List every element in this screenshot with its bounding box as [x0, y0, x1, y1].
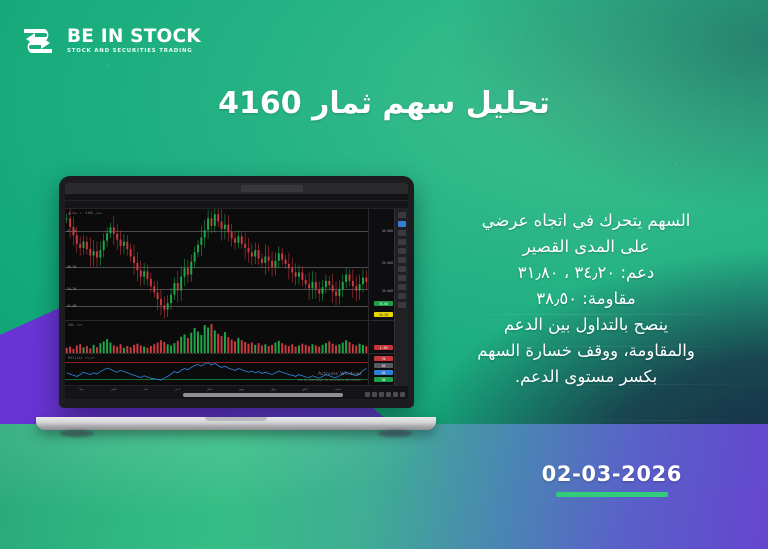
add-icon[interactable] — [365, 392, 370, 397]
time-axis-tick: مار — [143, 387, 148, 391]
laptop-notch — [205, 417, 267, 421]
brand-name: BE IN STOCK — [67, 27, 201, 46]
rsi-axis-right: 70 50 56 30 — [368, 354, 394, 387]
drawing-tools-rail[interactable] — [394, 209, 408, 399]
chart-bottom-bar[interactable]: ينافبرمارابرماييونيولاغسسبت — [65, 385, 408, 399]
be-in-stock-arrows-logo-icon — [18, 20, 58, 62]
time-axis-tick: فبر — [111, 387, 116, 391]
eye-icon[interactable] — [398, 293, 406, 299]
volume-series — [65, 321, 368, 354]
time-axis-tick: سبت — [335, 387, 340, 391]
axis-right-tick-0: 40.000 — [382, 229, 393, 233]
chart-indicator-row[interactable] — [65, 201, 408, 209]
shapes-icon[interactable] — [398, 248, 406, 254]
analysis-text-block: السهم يتحرك في اتجاه عرضي على المدى القص… — [426, 208, 746, 390]
symbol-label[interactable] — [202, 185, 228, 192]
calendar-icon[interactable] — [372, 392, 377, 397]
zoom-in-icon[interactable] — [393, 392, 398, 397]
watermark-subtitle: Go to Settings to activate Windows. — [298, 378, 362, 382]
watermark-title: Activate Windows — [318, 372, 362, 377]
rsi-oversold-badge: 30 — [374, 377, 393, 382]
rsi-series — [65, 354, 368, 388]
chart-body: ثمار 4160 ١٠ دقائق 47.40 38.50 34.20 31.… — [65, 209, 408, 399]
laptop-lid: ثمار 4160 ١٠ دقائق 47.40 38.50 34.20 31.… — [59, 176, 414, 408]
price-pane[interactable]: ثمار 4160 ١٠ دقائق 47.40 38.50 34.20 31.… — [65, 209, 408, 321]
analysis-paragraph: السهم يتحرك في اتجاه عرضي على المدى القص… — [426, 208, 746, 390]
axis-right-tick-2: 30.000 — [382, 289, 393, 293]
text-icon[interactable] — [398, 257, 406, 263]
last-price-badge: 35.60 — [374, 301, 393, 306]
alert-price-badge: 34.20 — [374, 312, 393, 317]
time-axis[interactable]: ينافبرمارابرماييونيولاغسسبت — [65, 386, 408, 393]
rsi-overbought-badge: 70 — [374, 356, 393, 361]
laptop-foot-left — [60, 430, 94, 437]
trendline-icon[interactable] — [398, 230, 406, 236]
chart-scrollbar[interactable] — [183, 393, 343, 397]
brand-logo-text: BE IN STOCK STOCK AND SECURITIES TRADING — [67, 27, 201, 55]
laptop-screen: ثمار 4160 ١٠ دقائق 47.40 38.50 34.20 31.… — [65, 183, 408, 399]
cursor-icon[interactable] — [398, 212, 406, 218]
page-title: تحليل سهم ثمار 4160 — [0, 86, 768, 121]
poster-canvas: BE IN STOCK STOCK AND SECURITIES TRADING… — [0, 0, 768, 549]
fib-icon[interactable] — [398, 239, 406, 245]
rsi-mid-badge: 50 — [374, 363, 393, 368]
time-axis-tick: ماي — [207, 387, 212, 391]
chart-app-toolbar[interactable] — [65, 183, 408, 194]
magnet-icon[interactable] — [398, 275, 406, 281]
rsi-pane[interactable]: RSI(14) ٥٦٫٤٢ 70 50 56 30 — [65, 354, 408, 388]
laptop-mockup: ثمار 4160 ١٠ دقائق 47.40 38.50 34.20 31.… — [36, 176, 436, 438]
date-block: 02-03-2026 — [542, 462, 682, 497]
brand-logo: BE IN STOCK STOCK AND SECURITIES TRADING — [18, 20, 201, 62]
measure-icon[interactable] — [398, 266, 406, 272]
lock-icon[interactable] — [398, 284, 406, 290]
time-axis-tick: يون — [239, 387, 244, 391]
candlestick-series — [65, 209, 368, 321]
trash-icon[interactable] — [398, 302, 406, 308]
laptop-base — [36, 417, 436, 430]
windows-activation-watermark: Activate Windows Go to Settings to activ… — [298, 372, 362, 382]
reset-zoom-icon[interactable] — [400, 392, 405, 397]
laptop-foot-right — [378, 430, 412, 437]
volume-value-badge: 1.2M — [374, 345, 393, 350]
date-underline-rule — [556, 492, 668, 497]
chart-symbol-infobar — [65, 194, 408, 201]
volume-axis-right: 1.2M — [368, 321, 394, 353]
axis-right-tick-1: 35.000 — [382, 261, 393, 265]
time-axis-tick: ابر — [175, 387, 180, 391]
time-axis-tick: ينا — [79, 387, 84, 391]
publish-date: 02-03-2026 — [542, 462, 682, 486]
brand-tagline: STOCK AND SECURITIES TRADING — [67, 49, 201, 55]
bottom-icon-row[interactable] — [365, 392, 405, 397]
zoom-out-icon[interactable] — [386, 392, 391, 397]
rsi-value-badge: 56 — [374, 370, 393, 375]
crosshair-icon[interactable] — [398, 221, 406, 227]
price-axis-right[interactable]: 40.000 35.000 30.000 35.60 34.20 — [368, 209, 394, 320]
grid-icon[interactable] — [379, 392, 384, 397]
time-axis-tick: يول — [271, 387, 276, 391]
time-axis-tick: اغس — [303, 387, 308, 391]
volume-pane[interactable]: VOL ١٢٣ 1.2M — [65, 321, 408, 354]
search-input[interactable] — [241, 185, 303, 192]
